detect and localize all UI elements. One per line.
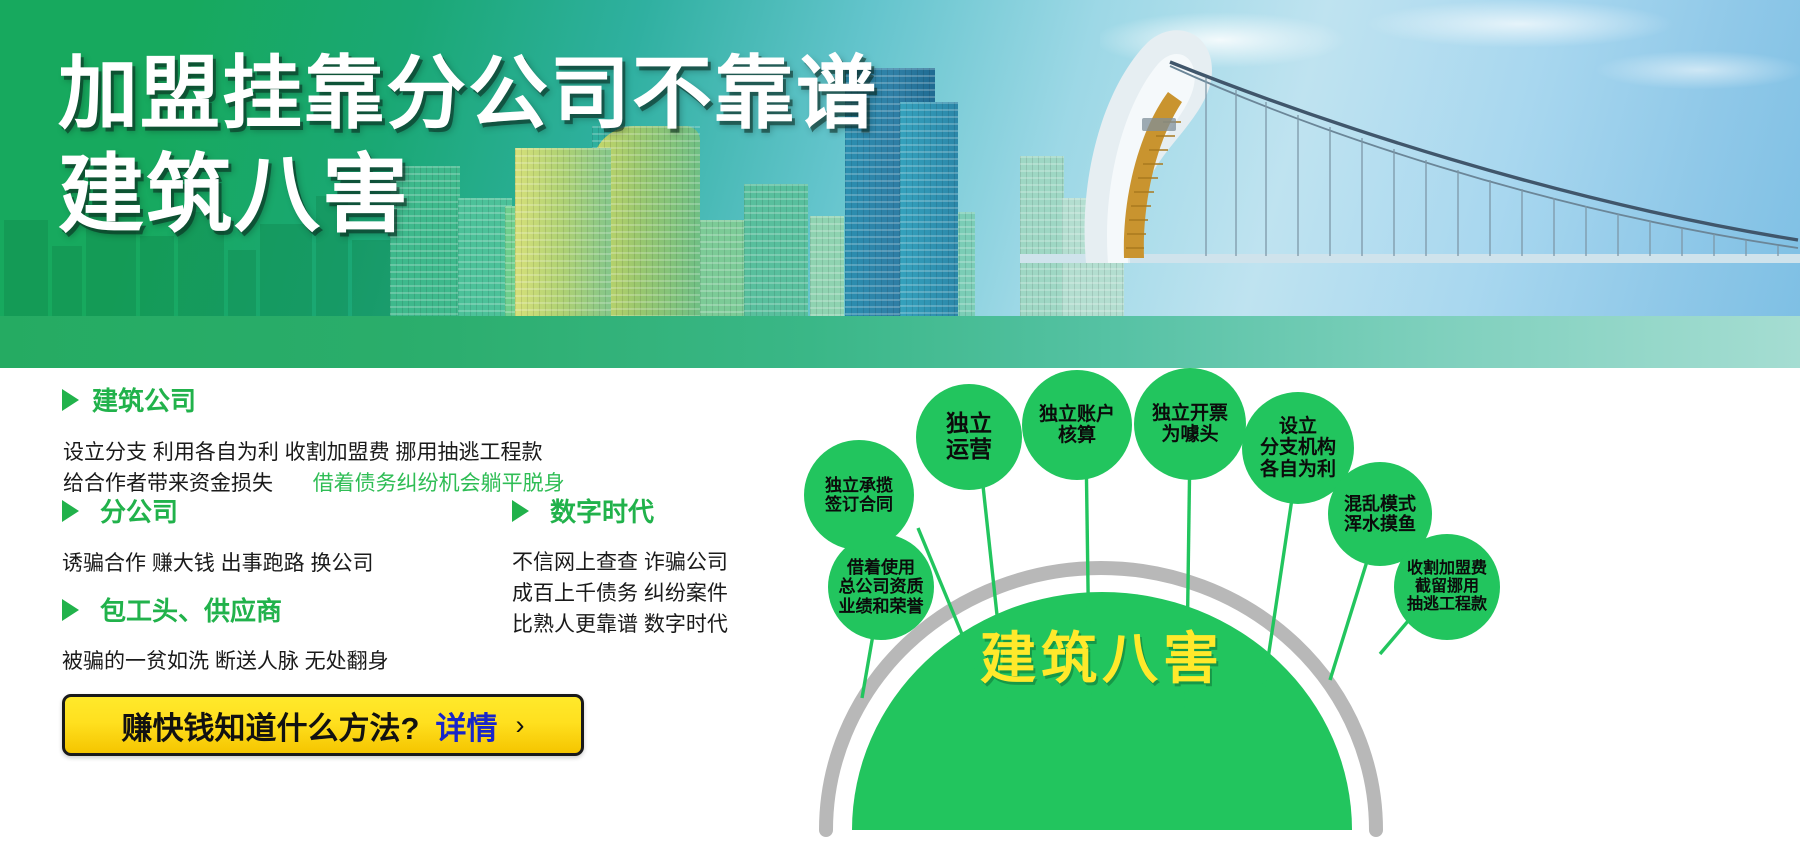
bubble-line: 收割加盟费 (1407, 560, 1487, 578)
bubble-line: 浑水摸鱼 (1344, 514, 1416, 534)
bubble-line: 分支机构 (1260, 437, 1336, 458)
section-heading-construction: 建筑公司 (62, 381, 565, 418)
section-body-construction: 设立分支 利用各自为利 收割加盟费 挪用抽逃工程款 给合作者带来资金损失 借着债… (63, 437, 565, 499)
chevron-right-icon: › (515, 710, 524, 741)
section-heading-label: 包工头、供应商 (100, 591, 282, 628)
body-line: 诱骗合作 赚大钱 出事跑路 换公司 (62, 548, 374, 579)
bubble-line: 独立账户 (1039, 404, 1115, 425)
hero-banner: 加盟挂靠分公司不靠谱 建筑八害 (0, 0, 1800, 368)
hero-title-group: 加盟挂靠分公司不靠谱 建筑八害 (58, 52, 878, 241)
section-heading-label: 分公司 (100, 492, 178, 529)
bubble-line: 独立 (946, 411, 992, 437)
body-line: 被骗的一贫如洗 断送人脉 无处翻身 (62, 646, 389, 677)
bubble-line: 抽逃工程款 (1407, 596, 1487, 614)
bubble-line: 核算 (1058, 425, 1096, 446)
bubble-line: 总公司资质 (839, 577, 924, 596)
section-construction-company: 建筑公司 设立分支 利用各自为利 收割加盟费 挪用抽逃工程款 给合作者带来资金损… (62, 381, 565, 499)
section-branch-company: 分公司 诱骗合作 赚大钱 出事跑路 换公司 (62, 492, 374, 579)
bubble-line: 截留挪用 (1415, 578, 1479, 596)
triangle-bullet-icon (62, 389, 79, 411)
bubble-line: 混乱模式 (1344, 494, 1416, 514)
section-body-contractor: 被骗的一贫如洗 断送人脉 无处翻身 (62, 646, 389, 677)
section-body-digital: 不信网上查查 诈骗公司 成百上千债务 纠纷案件 比熟人更靠谱 数字时代 (512, 547, 728, 640)
section-contractor-supplier: 包工头、供应商 被骗的一贫如洗 断送人脉 无处翻身 (62, 591, 389, 677)
details-cta-button[interactable]: 赚快钱知道什么方法? 详情 › (62, 694, 584, 756)
bubble-independent-contracting[interactable]: 独立承揽 签订合同 (804, 440, 914, 550)
triangle-bullet-icon (512, 500, 529, 522)
bubble-line: 独立承揽 (825, 476, 893, 495)
bubble-harvest-franchise-fee[interactable]: 收割加盟费 截留挪用 抽逃工程款 (1394, 534, 1500, 640)
section-heading-digital: 数字时代 (512, 492, 728, 529)
bubble-independent-invoice[interactable]: 独立开票 为噱头 (1134, 368, 1246, 480)
bubble-line: 借着使用 (847, 558, 915, 577)
body-line: 不信网上查查 诈骗公司 (512, 547, 728, 578)
hero-title-line2: 建筑八害 (58, 151, 878, 240)
left-content-column: 建筑公司 设立分支 利用各自为利 收割加盟费 挪用抽逃工程款 给合作者带来资金损… (0, 368, 790, 844)
bubble-line: 签订合同 (825, 495, 893, 514)
cta-label: 赚快钱知道什么方法? (122, 703, 420, 748)
bubble-line: 设立 (1279, 416, 1317, 437)
bubble-independent-operation[interactable]: 独立 运营 (916, 384, 1022, 490)
bubble-independent-account[interactable]: 独立账户 核算 (1022, 370, 1132, 480)
bubble-line: 各自为利 (1260, 459, 1336, 480)
cta-link-label[interactable]: 详情 (435, 703, 497, 748)
body-line: 设立分支 利用各自为利 收割加盟费 挪用抽逃工程款 (63, 437, 565, 468)
eight-harms-diagram: 借着使用 总公司资质 业绩和荣誉 独立承揽 签订合同 独立 运营 独立账户 核算… (790, 368, 1800, 844)
hero-base-strip (0, 316, 1800, 368)
body-line: 比熟人更靠谱 数字时代 (512, 609, 728, 640)
section-heading-label: 建筑公司 (92, 381, 196, 418)
bubble-line: 为噱头 (1161, 424, 1218, 445)
section-heading-label: 数字时代 (550, 492, 654, 529)
bubble-line: 业绩和荣誉 (839, 597, 924, 616)
triangle-bullet-icon (62, 500, 79, 522)
hero-title-line1: 加盟挂靠分公司不靠谱 (58, 52, 878, 135)
bubble-line: 运营 (946, 437, 992, 463)
triangle-bullet-icon (62, 599, 79, 621)
section-digital-era: 数字时代 不信网上查查 诈骗公司 成百上千债务 纠纷案件 比熟人更靠谱 数字时代 (512, 492, 728, 640)
bubble-line: 独立开票 (1152, 403, 1228, 424)
dome-center-label: 建筑八害 (980, 614, 1224, 695)
section-heading-contractor: 包工头、供应商 (62, 591, 389, 628)
section-body-branch: 诱骗合作 赚大钱 出事跑路 换公司 (62, 548, 374, 579)
bridge-illustration (1020, 26, 1800, 316)
body-line: 成百上千债务 纠纷案件 (512, 578, 728, 609)
bubble-borrow-qualification[interactable]: 借着使用 总公司资质 业绩和荣誉 (828, 534, 934, 640)
section-heading-branch: 分公司 (62, 492, 374, 529)
